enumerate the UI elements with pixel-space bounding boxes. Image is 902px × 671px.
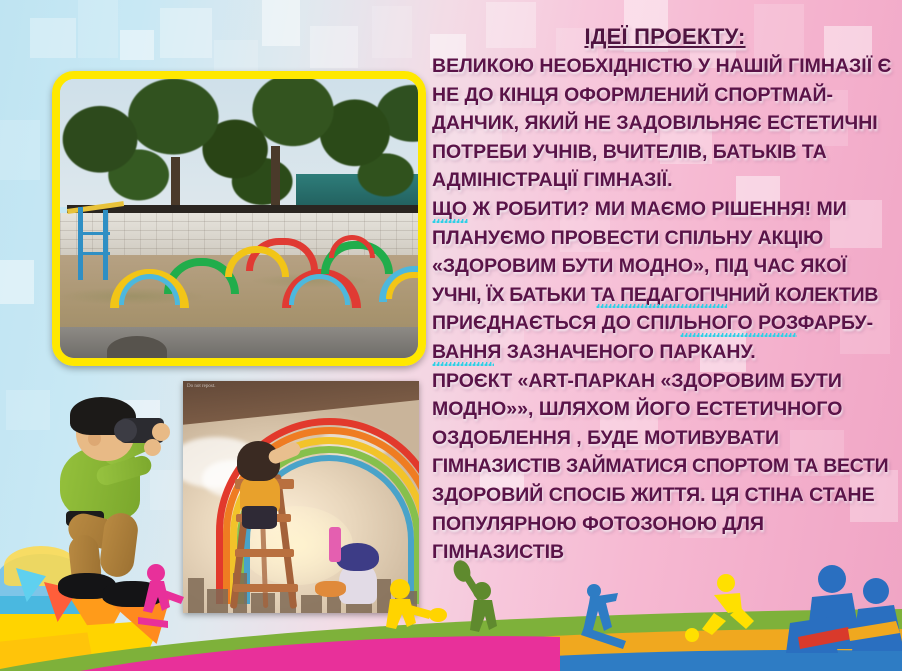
text-line: ЩО Ж РОБИТИ? МИ МАЄМО РІШЕННЯ! МИ	[432, 195, 898, 224]
spellcheck-underline	[680, 333, 797, 337]
text-line: ГІМНАЗИСТІВ ЗАЙМАТИСЯ СПОРТОМ ТА ВЕСТИ	[432, 452, 898, 481]
text-line-content: ВАННЯ ЗАЗНАЧЕНОГО ПАРКАНУ.	[432, 341, 756, 363]
text-line: МОДНО»», ШЛЯХОМ ЙОГО ЕСТЕТИЧНОГО	[432, 395, 898, 424]
text-line-content: ПРИЄДНАЄТЬСЯ ДО СПІЛЬНОГО РОЗФАРБУ-	[432, 312, 873, 334]
text-line: ГІМНАЗИСТІВ	[432, 538, 898, 567]
text-line: «ЗДОРОВИМ БУТИ МОДНО», ПІД ЧАС ЯКОЇ	[432, 252, 898, 281]
text-line: ОЗДОБЛЕННЯ , БУДЕ МОТИВУВАТИ	[432, 424, 898, 453]
spellcheck-underline	[432, 362, 494, 366]
sports-silhouettes-svg	[0, 551, 902, 671]
text-line: ПОПУЛЯРНОЮ ФОТОЗОНОЮ ДЛЯ	[432, 510, 898, 539]
presentation-slide: Do not repost.	[0, 0, 902, 671]
page-title: ІДЕЇ ПРОЕКТУ:	[432, 24, 898, 50]
text-line: УЧНІ, ЇХ БАТЬКИ ТА ПЕДАГОГІЧНИЙ КОЛЕКТИВ	[432, 281, 898, 310]
climbing-frame-post	[78, 207, 83, 280]
text-line: НЕ ДО КІНЦЯ ОФОРМЛЕНИЙ СПОРТМАЙ-	[432, 81, 898, 110]
photo-playground[interactable]	[52, 71, 426, 366]
climbing-frame-rung	[78, 252, 110, 255]
silhouette-skater	[138, 564, 184, 628]
text-line: ПОТРЕБИ УЧНІВ, ВЧИТЕЛІВ, БАТЬКІВ ТА	[432, 138, 898, 167]
text-line: ПЛАНУЄМО ПРОВЕСТИ СПІЛЬНУ АКЦІЮ	[432, 224, 898, 253]
playground-photo-content	[60, 79, 418, 358]
text-line: ПРИЄДНАЄТЬСЯ ДО СПІЛЬНОГО РОЗФАРБУ-	[432, 309, 898, 338]
text-line: АДМІНІСТРАЦІЇ ГІМНАЗІЇ.	[432, 166, 898, 195]
camera-lens	[114, 419, 137, 442]
bottom-sports-band	[0, 551, 902, 671]
project-ideas-text: ІДЕЇ ПРОЕКТУ: ВЕЛИКОЮ НЕОБХІДНІСТЮ У НАШ…	[432, 24, 898, 567]
text-line: ВАННЯ ЗАЗНАЧЕНОГО ПАРКАНУ.	[432, 338, 898, 367]
climbing-frame-post	[103, 210, 108, 280]
text-line: ДАНЧИК, ЯКИЙ НЕ ЗАДОВІЛЬНЯЄ ЕСТЕТИЧНІ	[432, 109, 898, 138]
spellcheck-underline	[596, 304, 727, 308]
text-line-content: УЧНІ, ЇХ БАТЬКИ ТА ПЕДАГОГІЧНИЙ КОЛЕКТИВ	[432, 284, 878, 306]
text-line: ЗДОРОВИЙ СПОСІБ ЖИТТЯ. ЦЯ СТІНА СТАНЕ	[432, 481, 898, 510]
text-line-content: ЩО Ж РОБИТИ? МИ МАЄМО РІШЕННЯ! МИ	[432, 198, 847, 220]
watermark-text: Do not repost.	[187, 383, 215, 390]
text-line: ВЕЛИКОЮ НЕОБХІДНІСТЮ У НАШІЙ ГІМНАЗІЇ Є	[432, 52, 898, 81]
text-line: ПРОЄКТ «ART-ПАРКАН «ЗДОРОВИМ БУТИ	[432, 367, 898, 396]
climbing-frame-rung	[78, 232, 110, 235]
child-trousers	[242, 506, 277, 529]
spellcheck-underline	[432, 219, 468, 223]
silhouette-tennis-player	[451, 558, 497, 632]
photographer-hand	[144, 439, 161, 456]
silhouette-yellow-player	[386, 579, 447, 629]
